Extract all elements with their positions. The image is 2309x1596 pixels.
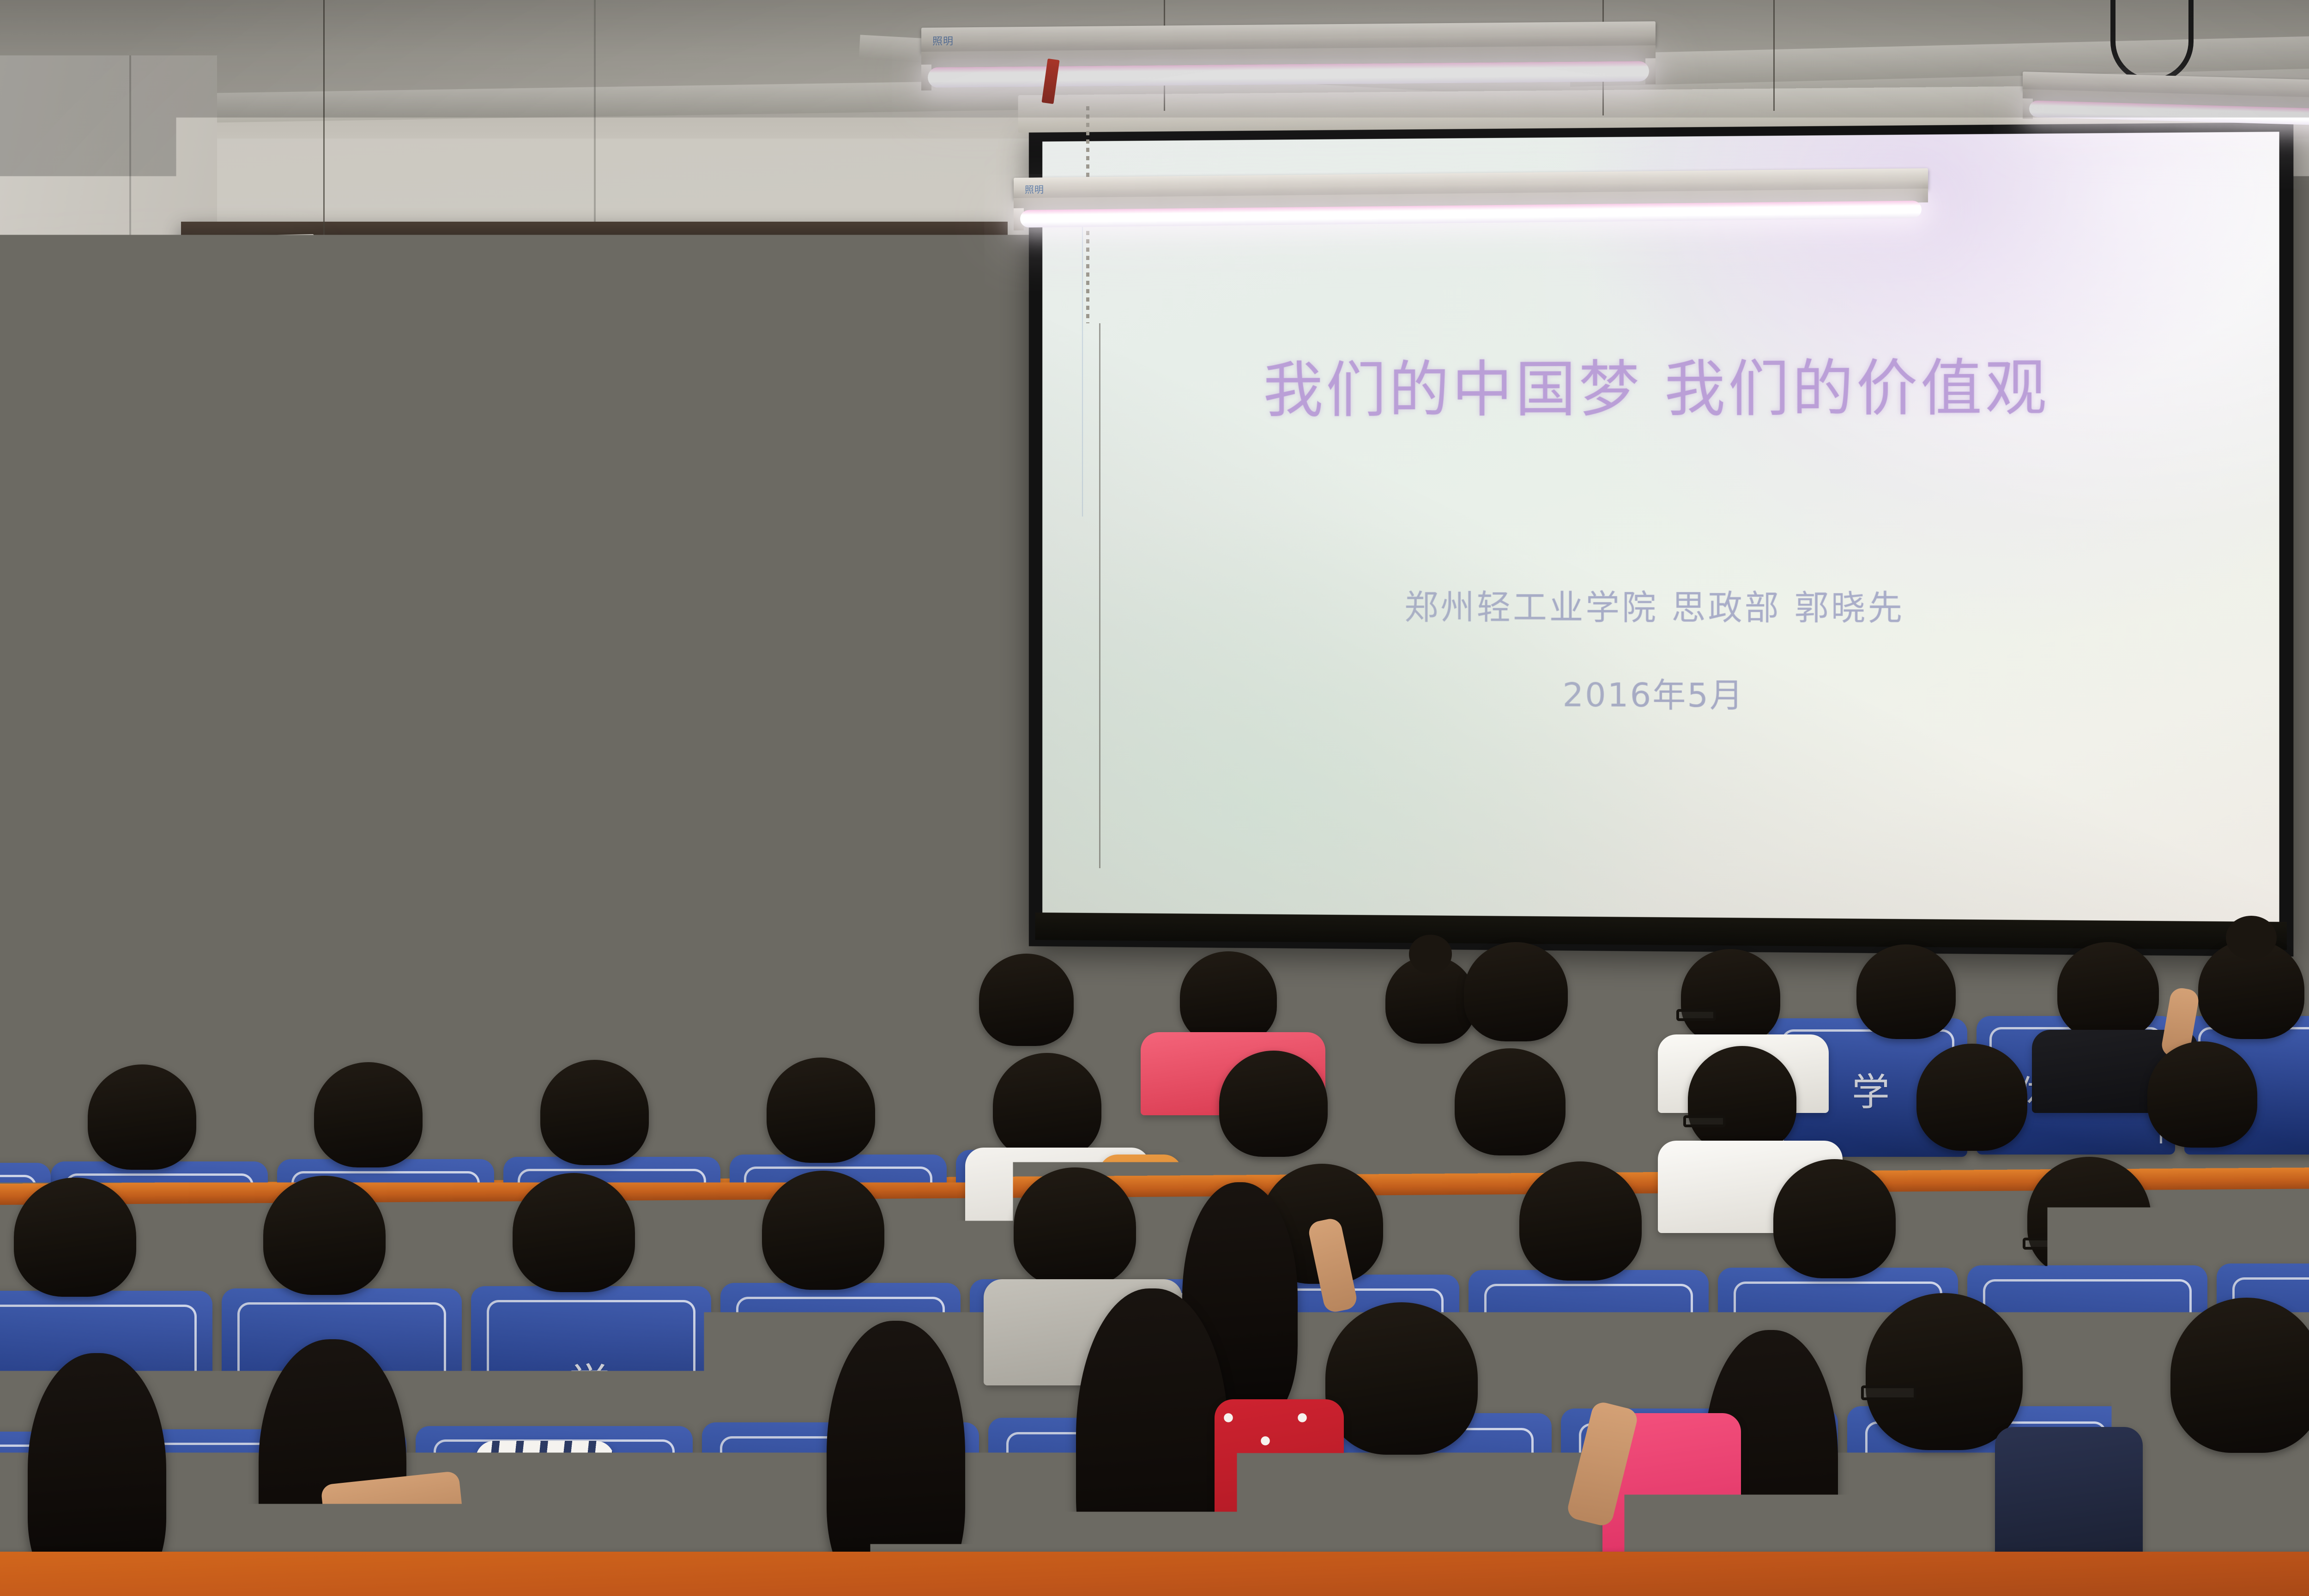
projection-screen-surface: 我们的中国梦 我们的价值观 郑州轻工业学院 思政部 郭晓先 2016年5月 [1042, 132, 2279, 922]
presenter-ear-right [310, 738, 321, 756]
lecture-hall-photo: 我们的中国梦 我们的价值观 郑州轻工业学院 思政部 郭晓先 2016年5月 照明 [0, 0, 2309, 1596]
student-head-a7 [2198, 940, 2304, 1039]
student-head-a2 [1385, 956, 1475, 1044]
student-head-a-left5 [162, 967, 256, 1059]
presenter-ear-left [240, 738, 251, 756]
student-glasses-d2 [1861, 1385, 1916, 1400]
student-head-c4 [2027, 1157, 2151, 1277]
student-head-a-left3 [580, 963, 674, 1054]
student-head-b2 [1455, 1048, 1566, 1155]
student-head-a6 [2057, 942, 2159, 1039]
ceiling-wire-right-b [1773, 0, 1775, 111]
lecture-notes-papers[interactable] [478, 829, 580, 858]
chalk-tray [0, 469, 222, 497]
slide-title: 我们的中国梦 我们的价值观 [1042, 338, 2279, 429]
fixture-brand-mark-2: 照明 [1025, 182, 1044, 195]
wall-seam-2 [594, 0, 596, 222]
slide-organization: 郑州轻工业学院 思政部 郭晓先 [1042, 580, 2279, 631]
student-head-b5 [2147, 1041, 2257, 1148]
presenter-shirt-pocket [303, 843, 339, 877]
student-head-b-left4 [88, 1064, 196, 1170]
student-head-c3 [1773, 1159, 1896, 1278]
hanging-power-cable [2110, 0, 2194, 83]
student-head-b-left2 [540, 1060, 649, 1165]
student-head-b1 [1219, 1051, 1328, 1157]
student-glasses-a4 [1676, 1009, 1716, 1021]
student-head-a1 [1180, 951, 1277, 1044]
student-glasses-c4 [2023, 1238, 2068, 1250]
presenter [194, 679, 388, 896]
screen-vignette [1042, 132, 2279, 922]
student-head-c-left1 [762, 1171, 884, 1290]
student-head-c-left4 [14, 1178, 136, 1297]
student-head-c0 [1014, 1167, 1136, 1287]
student-head-b3 [1688, 1046, 1796, 1152]
desk-row-front-mid [416, 1524, 1154, 1556]
slide-date: 2016年5月 [1042, 666, 2279, 719]
presenter-hair [239, 679, 320, 740]
student-head-d2 [1866, 1293, 2023, 1450]
student-glasses-b3 [1683, 1115, 1726, 1127]
ceiling-wire-left [323, 0, 325, 490]
student-head-b-left3 [314, 1062, 423, 1167]
presenter-eye-left [254, 741, 270, 747]
student-head-c-left3 [263, 1176, 386, 1295]
student-head-b-left1 [767, 1058, 875, 1163]
fixture-brand-mark: 照明 [932, 33, 954, 48]
student-head-a-left2 [979, 954, 1074, 1046]
student-head-a3 [1464, 942, 1568, 1041]
presenter-eye-right [287, 741, 303, 747]
student-head-b0 [993, 1053, 1101, 1159]
presenter-shirt-placket [280, 817, 284, 903]
student-head-a4 [1681, 949, 1780, 1044]
student-head-a5 [1856, 944, 1956, 1039]
slide-guide-vertical [1082, 188, 1083, 517]
presenter-mouth [271, 773, 292, 783]
student-head-a-left4 [365, 965, 459, 1057]
student-head-d1 [1325, 1302, 1478, 1455]
projection-screen: 我们的中国梦 我们的价值观 郑州轻工业学院 思政部 郭晓先 2016年5月 [1029, 120, 2293, 957]
screen-pull-string [1099, 323, 1100, 868]
student-head-c2 [1519, 1161, 1642, 1281]
student-torso-c4 [2000, 1268, 2198, 1374]
student-glasses-al1 [761, 1011, 800, 1023]
desk-row-front [0, 1552, 2309, 1596]
student-head-b4 [1916, 1044, 2027, 1151]
student-head-c-left2 [513, 1173, 635, 1292]
presenter-nose [275, 752, 285, 768]
